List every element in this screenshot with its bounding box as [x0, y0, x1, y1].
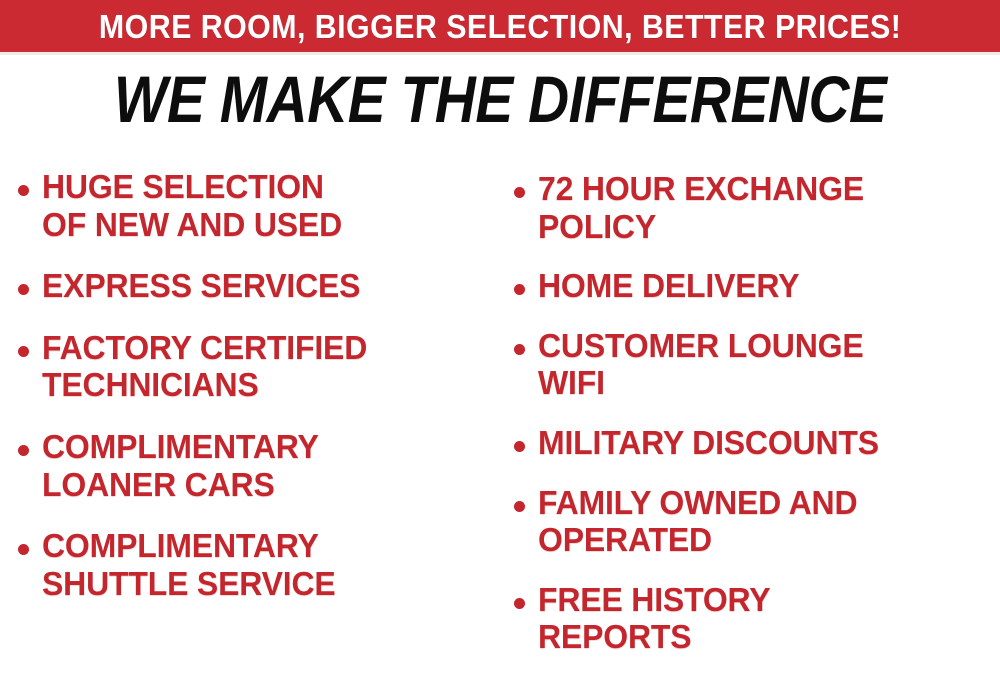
list-item-label: CUSTOMER LOUNGE WIFI — [538, 327, 1000, 402]
benefits-column-right: 72 HOUR EXCHANGE POLICY HOME DELIVERY CU… — [500, 152, 1000, 694]
list-item-text: COMPLIMENTARY SHUTTLE SERVICE — [42, 527, 336, 602]
bullet-dot-icon — [18, 185, 29, 196]
page-title: WE MAKE THE DIFFERENCE — [0, 66, 1000, 133]
promo-poster: MORE ROOM, BIGGER SELECTION, BETTER PRIC… — [0, 0, 1000, 694]
list-item-label: FAMILY OWNED AND OPERATED — [538, 484, 1000, 559]
bullet-dot-icon — [514, 501, 525, 512]
list-item-text: 72 HOUR EXCHANGE POLICY — [538, 170, 864, 245]
list-item-text: FAMILY OWNED AND OPERATED — [538, 484, 857, 559]
bullet-dot-icon — [514, 284, 525, 295]
list-item-label: FACTORY CERTIFIED TECHNICIANS — [42, 329, 500, 404]
bullet-dot-icon — [514, 441, 525, 452]
list-item-label: MILITARY DISCOUNTS — [538, 424, 1000, 462]
list-item-label: 72 HOUR EXCHANGE POLICY — [538, 170, 1000, 245]
benefits-columns: HUGE SELECTION OF NEW AND USED EXPRESS S… — [0, 152, 1000, 694]
list-item: FREE HISTORY REPORTS — [514, 581, 1000, 656]
list-item: MILITARY DISCOUNTS — [514, 424, 1000, 462]
list-item-text: MILITARY DISCOUNTS — [538, 424, 879, 462]
list-item-label: HUGE SELECTION OF NEW AND USED — [42, 168, 500, 243]
list-item-text: HOME DELIVERY — [538, 267, 799, 305]
bullet-dot-icon — [18, 445, 29, 456]
list-item-label: HOME DELIVERY — [538, 267, 1000, 305]
banner-headline-text: MORE ROOM, BIGGER SELECTION, BETTER PRIC… — [99, 10, 901, 43]
list-item: COMPLIMENTARY LOANER CARS — [18, 428, 500, 503]
list-item-text: EXPRESS SERVICES — [42, 267, 360, 305]
list-item-text: COMPLIMENTARY LOANER CARS — [42, 428, 319, 503]
list-item-label: FREE HISTORY REPORTS — [538, 581, 1000, 656]
list-item: FAMILY OWNED AND OPERATED — [514, 484, 1000, 559]
list-item-text: FACTORY CERTIFIED TECHNICIANS — [42, 329, 367, 404]
list-item: CUSTOMER LOUNGE WIFI — [514, 327, 1000, 402]
list-item-label: COMPLIMENTARY SHUTTLE SERVICE — [42, 527, 500, 602]
bullet-dot-icon — [18, 284, 29, 295]
list-item-text: FREE HISTORY REPORTS — [538, 581, 770, 656]
page-title-text: WE MAKE THE DIFFERENCE — [114, 66, 887, 133]
list-item: EXPRESS SERVICES — [18, 267, 500, 305]
top-banner: MORE ROOM, BIGGER SELECTION, BETTER PRIC… — [0, 0, 1000, 52]
list-item: FACTORY CERTIFIED TECHNICIANS — [18, 329, 500, 404]
list-item-label: EXPRESS SERVICES — [42, 267, 500, 305]
bullet-dot-icon — [514, 187, 525, 198]
list-item: 72 HOUR EXCHANGE POLICY — [514, 170, 1000, 245]
benefits-column-left: HUGE SELECTION OF NEW AND USED EXPRESS S… — [0, 152, 500, 694]
list-item: COMPLIMENTARY SHUTTLE SERVICE — [18, 527, 500, 602]
list-item-text: HUGE SELECTION OF NEW AND USED — [42, 168, 342, 243]
bullet-dot-icon — [514, 598, 525, 609]
list-item-label: COMPLIMENTARY LOANER CARS — [42, 428, 500, 503]
list-item-text: CUSTOMER LOUNGE WIFI — [538, 327, 864, 402]
bullet-dot-icon — [18, 346, 29, 357]
banner-underline-divider — [0, 52, 1000, 55]
bullet-dot-icon — [514, 344, 525, 355]
list-item: HOME DELIVERY — [514, 267, 1000, 305]
bullet-dot-icon — [18, 544, 29, 555]
list-item: HUGE SELECTION OF NEW AND USED — [18, 168, 500, 243]
